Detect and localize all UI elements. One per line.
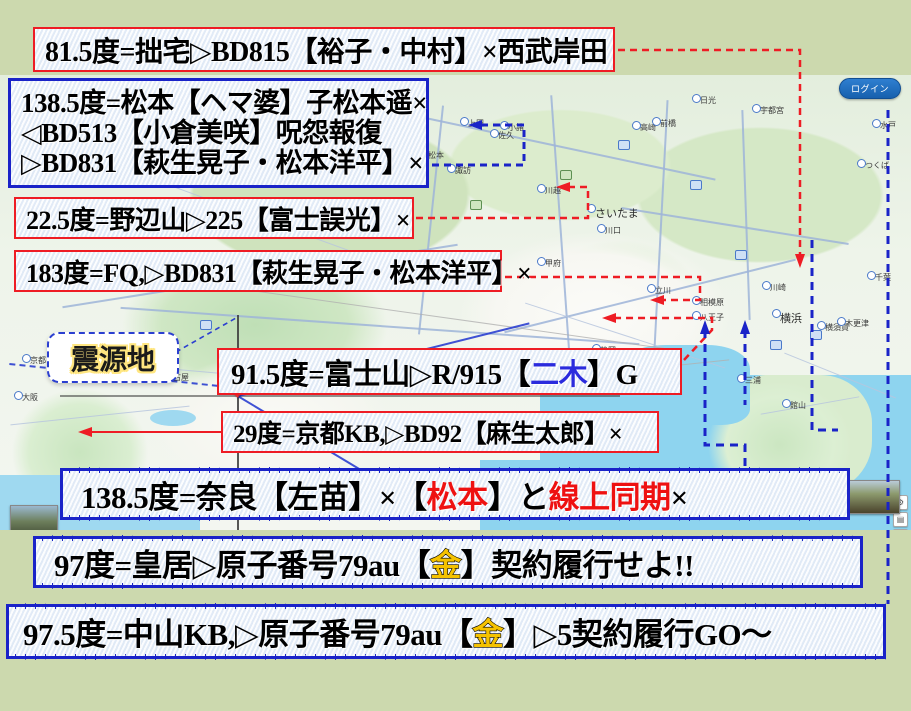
map-place-pin-icon [817,321,826,330]
callout-text-segment: × [671,480,688,516]
map-label: 川口 [605,225,621,236]
map-poi-icon [770,340,782,350]
map-place-pin-icon [460,117,469,126]
callout-line: 138.5度=奈良【左苗】×【松本】と線上同期× [81,472,688,517]
map-poi-icon [470,200,482,210]
map-place-pin-icon [647,284,656,293]
map-place-pin-icon [14,391,23,400]
map-layers-icon[interactable]: ▤ [893,512,908,527]
map-place-pin-icon [587,204,596,213]
map-place-pin-icon [652,117,661,126]
map-label: 木更津 [845,318,869,329]
map-thumbnail-left[interactable]: ルート [10,505,58,530]
callout-line: 97度=皇居▷原子番号79au【金】契約履行せよ!! [54,540,694,585]
callout-text-segment: 91.5度=富士山▷R/915【 [231,351,530,393]
callout-text-segment: 金 [473,609,504,654]
map-poi-icon [810,330,822,340]
map-label: 八王子 [700,312,724,323]
callout-text-segment: 金 [430,540,461,585]
callout-line: 29度=京都KB,▷BD92【麻生太郎】× [233,414,622,450]
map-place-pin-icon [872,119,881,128]
map-label: つくば [865,160,889,171]
map-label: 上田 [468,118,484,129]
crosshair-horizontal [60,395,620,397]
map-label: 甲府 [545,258,561,269]
map-label: 横浜 [780,310,802,326]
screenshot-root: ログイン ⚙ ▤ ルート さいたま川越川口横浜川崎千葉横須賀木更津相模原八王子立… [0,0,911,711]
map-label: 立川 [655,285,671,296]
callout-138-5-degrees-matsumoto: 138.5度=松本【ヘマ婆】子松本遥×◁BD513【小倉美咲】呪怨報復▷BD83… [8,78,429,188]
map-place-pin-icon [537,184,546,193]
map-place-pin-icon [782,399,791,408]
callout-text-segment: 97.5度=中山KB,▷原子番号79au【 [23,609,473,654]
map-place-pin-icon [692,296,701,305]
callout-line: 91.5度=富士山▷R/915【二木】G [231,351,638,393]
callout-line: 81.5度=拙宅▷BD815【裕子・中村】×西武岸田 [45,30,607,70]
map-label: 松本 [428,150,444,161]
callout-text-segment: 】▷5契約履行GO～ [503,609,772,654]
map-place-pin-icon [737,374,746,383]
map-label: 相模原 [700,297,724,308]
map-label: 佐久 [498,130,514,141]
map-label: 京都 [30,355,46,366]
callout-text-segment: 22.5度=野辺山▷225【富士誤光】× [26,200,410,237]
map-poi-icon [618,140,630,150]
callout-text-segment: 】契約履行せよ!! [461,540,694,585]
map-poi-icon [735,250,747,260]
map-label: さいたま [595,205,639,221]
callout-text-segment: 線上同期 [549,472,671,517]
callout-text-segment: 二木 [530,351,587,393]
map-poi-icon [560,170,572,180]
callout-97-degrees-koukyo: 97度=皇居▷原子番号79au【金】契約履行せよ!! [33,536,863,588]
callout-97-5-degrees-nakayama: 97.5度=中山KB,▷原子番号79au【金】▷5契約履行GO～ [6,604,886,659]
map-lake-biwa [150,410,196,426]
callout-line: ◁BD513【小倉美咲】呪怨報復 [21,118,382,148]
map-label: 前橋 [660,118,676,129]
callout-line: ▷BD831【萩生晃子・松本洋平】× [21,148,423,178]
map-place-pin-icon [837,317,846,326]
callout-line: 22.5度=野辺山▷225【富士誤光】× [26,200,410,237]
map-label: 日光 [700,95,716,106]
callout-text-segment: 29度=京都KB,▷BD92【麻生太郎】× [233,414,622,450]
map-label: 三浦 [745,375,761,386]
map-place-pin-icon [632,121,641,130]
callout-text-segment: ▷BD831【萩生晃子・松本洋平】× [21,148,423,178]
callout-text-segment: 】と [488,472,549,517]
login-button[interactable]: ログイン [839,78,901,99]
map-place-pin-icon [447,164,456,173]
callout-text-segment: 138.5度=奈良【左苗】×【 [81,472,427,517]
map-label: 水戸 [880,120,896,131]
map-place-pin-icon [500,121,509,130]
callout-line: 97.5度=中山KB,▷原子番号79au【金】▷5契約履行GO～ [23,609,772,654]
callout-text-segment: 松本 [427,472,488,517]
callout-text-segment: 183度=FQ,▷BD831【萩生晃子・松本洋平】× [26,253,531,290]
callout-text-segment: 138.5度=松本【ヘマ婆】子松本遥× [21,88,427,118]
map-poi-icon [200,320,212,330]
map-place-pin-icon [772,309,781,318]
map-label: 千葉 [875,272,891,283]
callout-text-segment: 】G [587,351,638,393]
map-place-pin-icon [762,281,771,290]
map-place-pin-icon [752,104,761,113]
map-poi-icon [690,180,702,190]
map-label: 館山 [790,400,806,411]
map-place-pin-icon [692,311,701,320]
map-place-pin-icon [490,129,499,138]
map-label: 川崎 [770,282,786,293]
epicenter-label: 震源地 [47,332,179,383]
callout-81-5-degrees: 81.5度=拙宅▷BD815【裕子・中村】×西武岸田 [33,27,615,72]
callout-91-5-degrees-fuji: 91.5度=富士山▷R/915【二木】G [217,348,682,395]
callout-183-degrees: 183度=FQ,▷BD831【萩生晃子・松本洋平】× [14,250,502,292]
map-label: 宇都宮 [760,105,784,116]
callout-text-segment: 97度=皇居▷原子番号79au【 [54,540,430,585]
map-place-pin-icon [537,257,546,266]
callout-29-degrees-kyoto: 29度=京都KB,▷BD92【麻生太郎】× [221,411,659,453]
map-place-pin-icon [867,271,876,280]
map-person-icon[interactable] [893,529,908,530]
callout-line: 138.5度=松本【ヘマ婆】子松本遥× [21,88,427,118]
map-place-pin-icon [597,224,606,233]
callout-text-segment: ◁BD513【小倉美咲】呪怨報復 [21,118,382,148]
map-label: 大阪 [22,392,38,403]
callout-text-segment: 81.5度=拙宅▷BD815【裕子・中村】×西武岸田 [45,30,607,70]
map-thumbnail-right[interactable] [848,480,900,514]
map-place-pin-icon [692,94,701,103]
callout-line: 183度=FQ,▷BD831【萩生晃子・松本洋平】× [26,253,531,290]
callout-22-5-degrees: 22.5度=野辺山▷225【富士誤光】× [14,197,414,239]
callout-138-5-degrees-nara: 138.5度=奈良【左苗】×【松本】と線上同期× [60,468,850,520]
map-place-pin-icon [22,354,31,363]
map-place-pin-icon [857,159,866,168]
map-label: 川越 [545,185,561,196]
map-label: 諏訪 [455,165,471,176]
